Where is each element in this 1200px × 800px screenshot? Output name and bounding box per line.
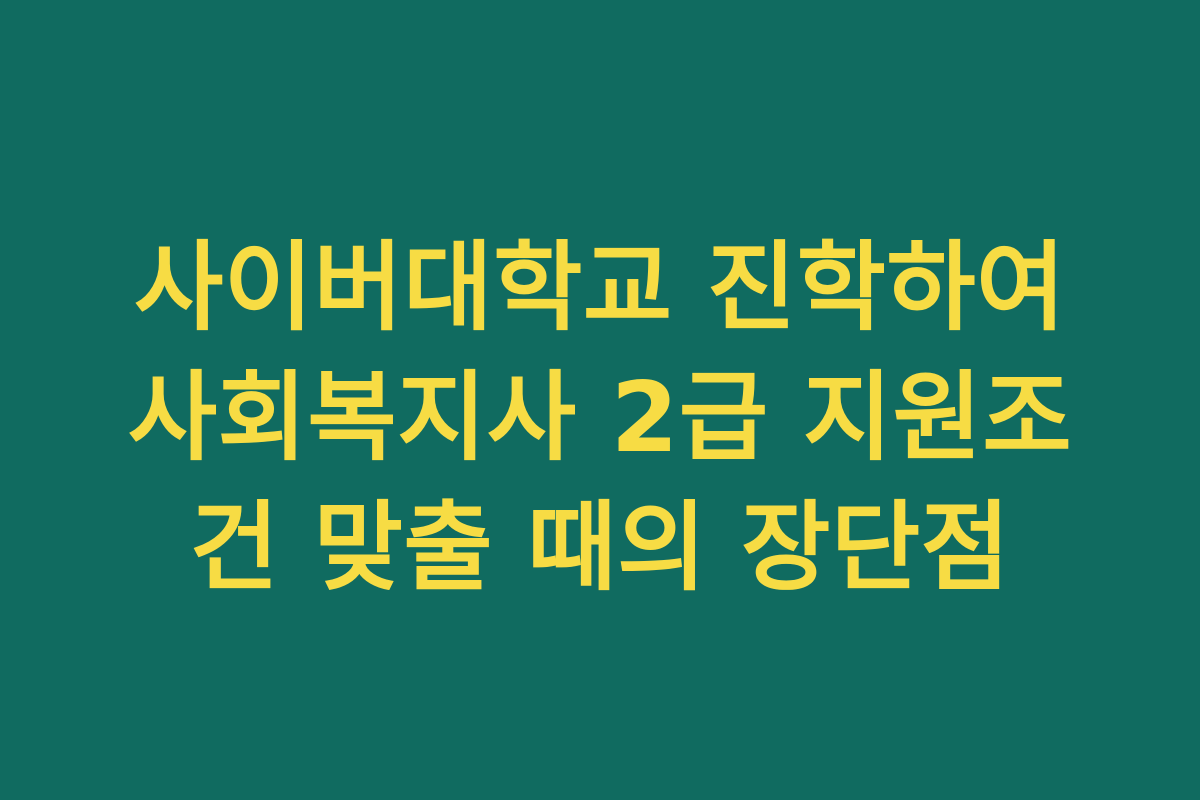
headline-line-3: 건 맞출 때의 장단점 [190, 483, 1011, 613]
headline-block: 사이버대학교 진학하여 사회복지사 2급 지원조 건 맞출 때의 장단점 [70, 223, 1130, 613]
banner-canvas: 사이버대학교 진학하여 사회복지사 2급 지원조 건 맞출 때의 장단점 [0, 0, 1200, 800]
headline-line-2: 사회복지사 2급 지원조 [128, 353, 1072, 483]
headline-line-1: 사이버대학교 진학하여 [134, 223, 1066, 353]
